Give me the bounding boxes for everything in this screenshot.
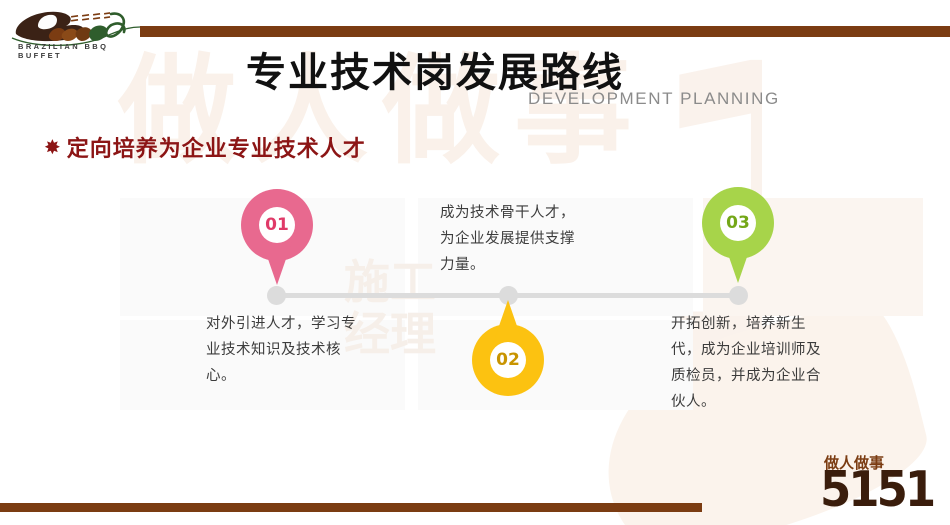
- map-pin-marker-03[interactable]: 03: [702, 187, 774, 283]
- page-subtitle: DEVELOPMENT PLANNING: [528, 89, 780, 109]
- bottom-accent-bar: [0, 503, 702, 512]
- timeline-node-01[interactable]: [267, 286, 286, 305]
- section-heading-label: 定向培养为企业专业技术人才: [67, 131, 366, 163]
- brand-logo: BRAZILIAN BBQ BUFFET: [8, 4, 156, 60]
- pin-number-label: 01: [259, 207, 295, 243]
- map-pin-marker-02[interactable]: 02: [472, 300, 544, 396]
- section-heading-row: ✸ 定向培养为企业专业技术人才: [44, 131, 366, 163]
- slide-canvas: 做人做事 1 施工经理: [0, 0, 950, 525]
- timeline-description-02: 成为技术骨干人才，为企业发展提供支撑力量。: [440, 200, 580, 278]
- timeline-description-03: 开拓创新，培养新生代，成为企业培训师及质检员，并成为企业合伙人。: [671, 311, 831, 415]
- timeline-node-03[interactable]: [729, 286, 748, 305]
- brand-tagline: BRAZILIAN BBQ BUFFET: [18, 42, 156, 60]
- pin-number-label: 03: [720, 205, 756, 241]
- map-pin-marker-01[interactable]: 01: [241, 189, 313, 285]
- timeline-description-01: 对外引进人才，学习专业技术知识及技术核心。: [206, 311, 356, 389]
- footer-mark: 5151: [820, 465, 933, 514]
- asterisk-bullet-icon: ✸: [44, 137, 62, 157]
- footer-logo: 做人做事 5151: [820, 452, 940, 512]
- top-accent-bar: [140, 26, 950, 37]
- pin-number-label: 02: [490, 342, 526, 378]
